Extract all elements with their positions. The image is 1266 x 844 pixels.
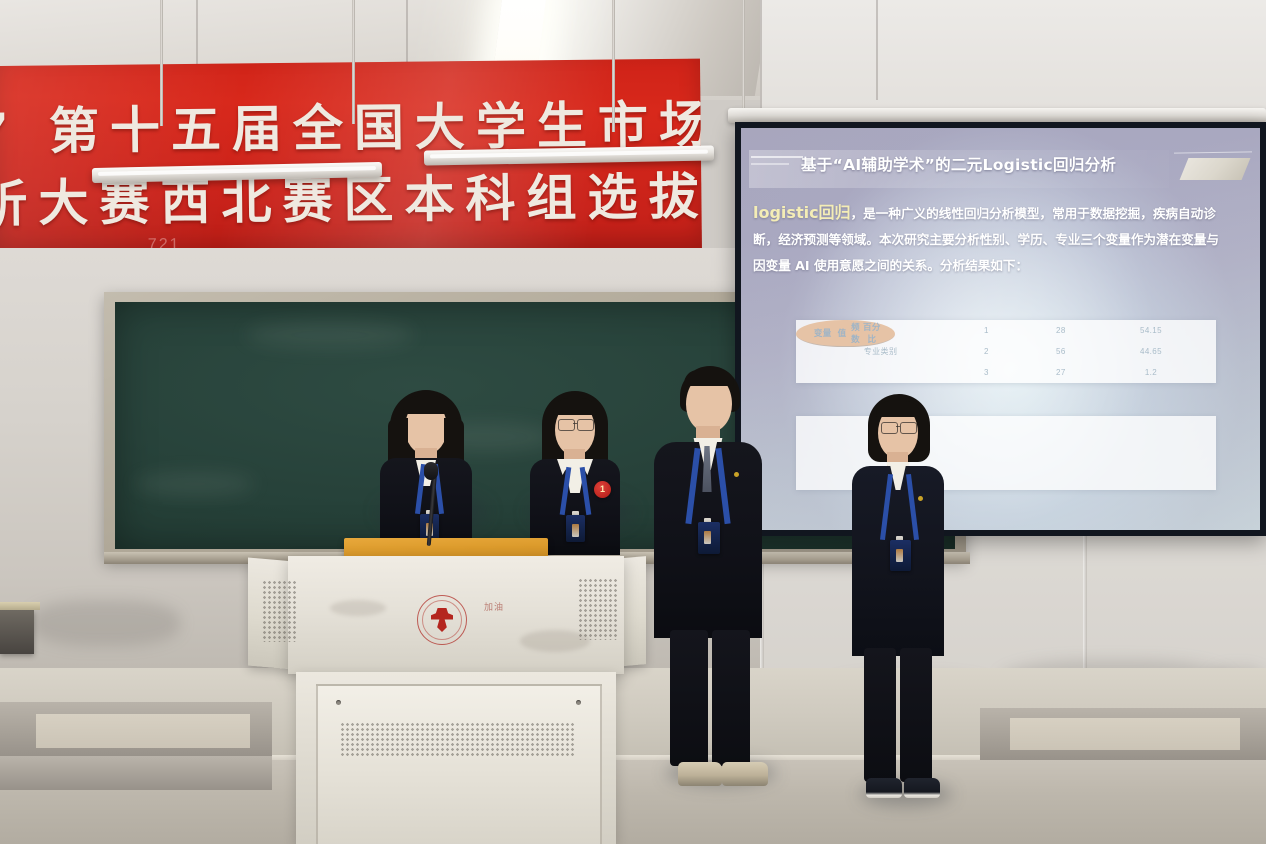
hair-fringe (876, 401, 920, 417)
table-cell: 1.2 (1100, 368, 1202, 377)
wall-corner-seam (760, 0, 762, 118)
crest-glyph (431, 608, 453, 632)
hair-fringe (403, 396, 449, 414)
projector-screen-roller (728, 108, 1266, 123)
slide-highlight-term: logistic回归 (753, 203, 851, 222)
wall-stain (30, 600, 180, 646)
table-row: 3 27 1.2 (796, 362, 1216, 383)
university-crest (417, 595, 467, 645)
table-header-row: 变量 值 频数 百分比 (796, 320, 895, 347)
glasses-bridge (573, 423, 577, 424)
shoe-right (904, 778, 940, 798)
table-cell: 27 (1022, 368, 1100, 377)
shoe-left (866, 778, 902, 798)
slide-body-line-2: 断，经济预测等领域。本次研究主要分析性别、学历、专业三个变量作为潜在变量与 (753, 227, 1246, 253)
trouser-leg-left (864, 648, 896, 782)
slide-body-line-3: 因变量 AI 使用意愿之间的关系。分析结果如下： (753, 253, 1246, 279)
id-badge (890, 540, 911, 571)
chalk-smudge (135, 472, 255, 496)
shoe-left (678, 762, 722, 786)
slide-body-text: logistic回归，是一种广义的线性回归分析模型，常用于数据挖掘，疾病自动诊 … (753, 200, 1246, 279)
table-cell: 1 (951, 326, 1022, 335)
podium-speaker-grille-right (578, 578, 618, 640)
hair-fringe (553, 398, 597, 415)
slide-title-decoration (1180, 158, 1251, 180)
table-cell: 54.15 (1100, 326, 1202, 335)
lamp-hanger-rod (352, 0, 355, 124)
table-cell: 2 (951, 347, 1022, 356)
glasses-left-lens (881, 422, 898, 434)
table-cell: 44.65 (1100, 347, 1202, 356)
table-header-cell: 值 (836, 327, 849, 339)
trouser-leg-right (900, 648, 932, 782)
upper-right-wall (760, 0, 1266, 118)
slide-body-line-1: ，是一种广义的线性回归分析模型，常用于数据挖掘，疾病自动诊 (851, 206, 1216, 221)
table-cell: 专业类别 (810, 346, 951, 357)
podium-scuff (330, 600, 386, 616)
step-inlay (1010, 718, 1240, 750)
podium-base-grille (340, 722, 576, 756)
ceiling-seam (876, 0, 878, 100)
glasses-bridge (896, 426, 900, 427)
wall-mounted-box (0, 610, 34, 654)
podium-graffiti: 加油 (484, 600, 504, 613)
slide-canvas: 基于“AI辅助学术”的二元Logistic回归分析 logistic回归，是一种… (741, 128, 1260, 530)
glasses-right-lens (577, 419, 594, 431)
panel-screw (336, 700, 341, 705)
glasses-right-lens (900, 422, 917, 434)
id-badge (566, 515, 585, 542)
table-cell: 56 (1022, 347, 1100, 356)
lapel-pin (734, 472, 739, 477)
photo-scene: ” 第十五届全国大学生市场 析大赛西北赛区本科组选拔赛 721 (0, 0, 1266, 844)
contestant-number-badge: 1 (594, 481, 611, 498)
podium-base-panel (316, 684, 602, 844)
stage-step-lower (0, 756, 272, 790)
microphone-head (424, 462, 438, 480)
projector-screen: 基于“AI辅助学术”的二元Logistic回归分析 logistic回归，是一种… (735, 122, 1266, 536)
lamp-hanger-rod (160, 0, 163, 126)
wall-box-lid (0, 602, 40, 610)
trouser-leg-left (670, 630, 708, 766)
shoe-right (722, 762, 768, 786)
panel-screw (576, 700, 581, 705)
podium-scuff (520, 630, 590, 652)
table-header-cell: 百分比 (863, 321, 882, 345)
slide-results-table: 变量 值 频数 百分比 1 28 54.15 专业类别 2 56 44.65 (796, 320, 1216, 383)
slide-title-rule (1174, 151, 1252, 153)
glasses-left-lens (558, 419, 575, 431)
table-cell: 28 (1022, 326, 1100, 335)
table-header-cell: 频数 (848, 321, 862, 345)
trouser-leg-right (712, 630, 750, 766)
podium-speaker-grille-left (262, 580, 298, 642)
slide-title: 基于“AI辅助学术”的二元Logistic回归分析 (801, 153, 1141, 175)
hair-fringe (684, 370, 734, 386)
step-inlay (36, 714, 250, 748)
table-cell: 3 (951, 368, 1022, 377)
lapel-pin (918, 496, 923, 501)
id-badge (698, 522, 720, 554)
lamp-hanger-rod (612, 0, 615, 132)
table-header-cell: 变量 (810, 327, 836, 339)
chalk-smudge (245, 322, 415, 348)
